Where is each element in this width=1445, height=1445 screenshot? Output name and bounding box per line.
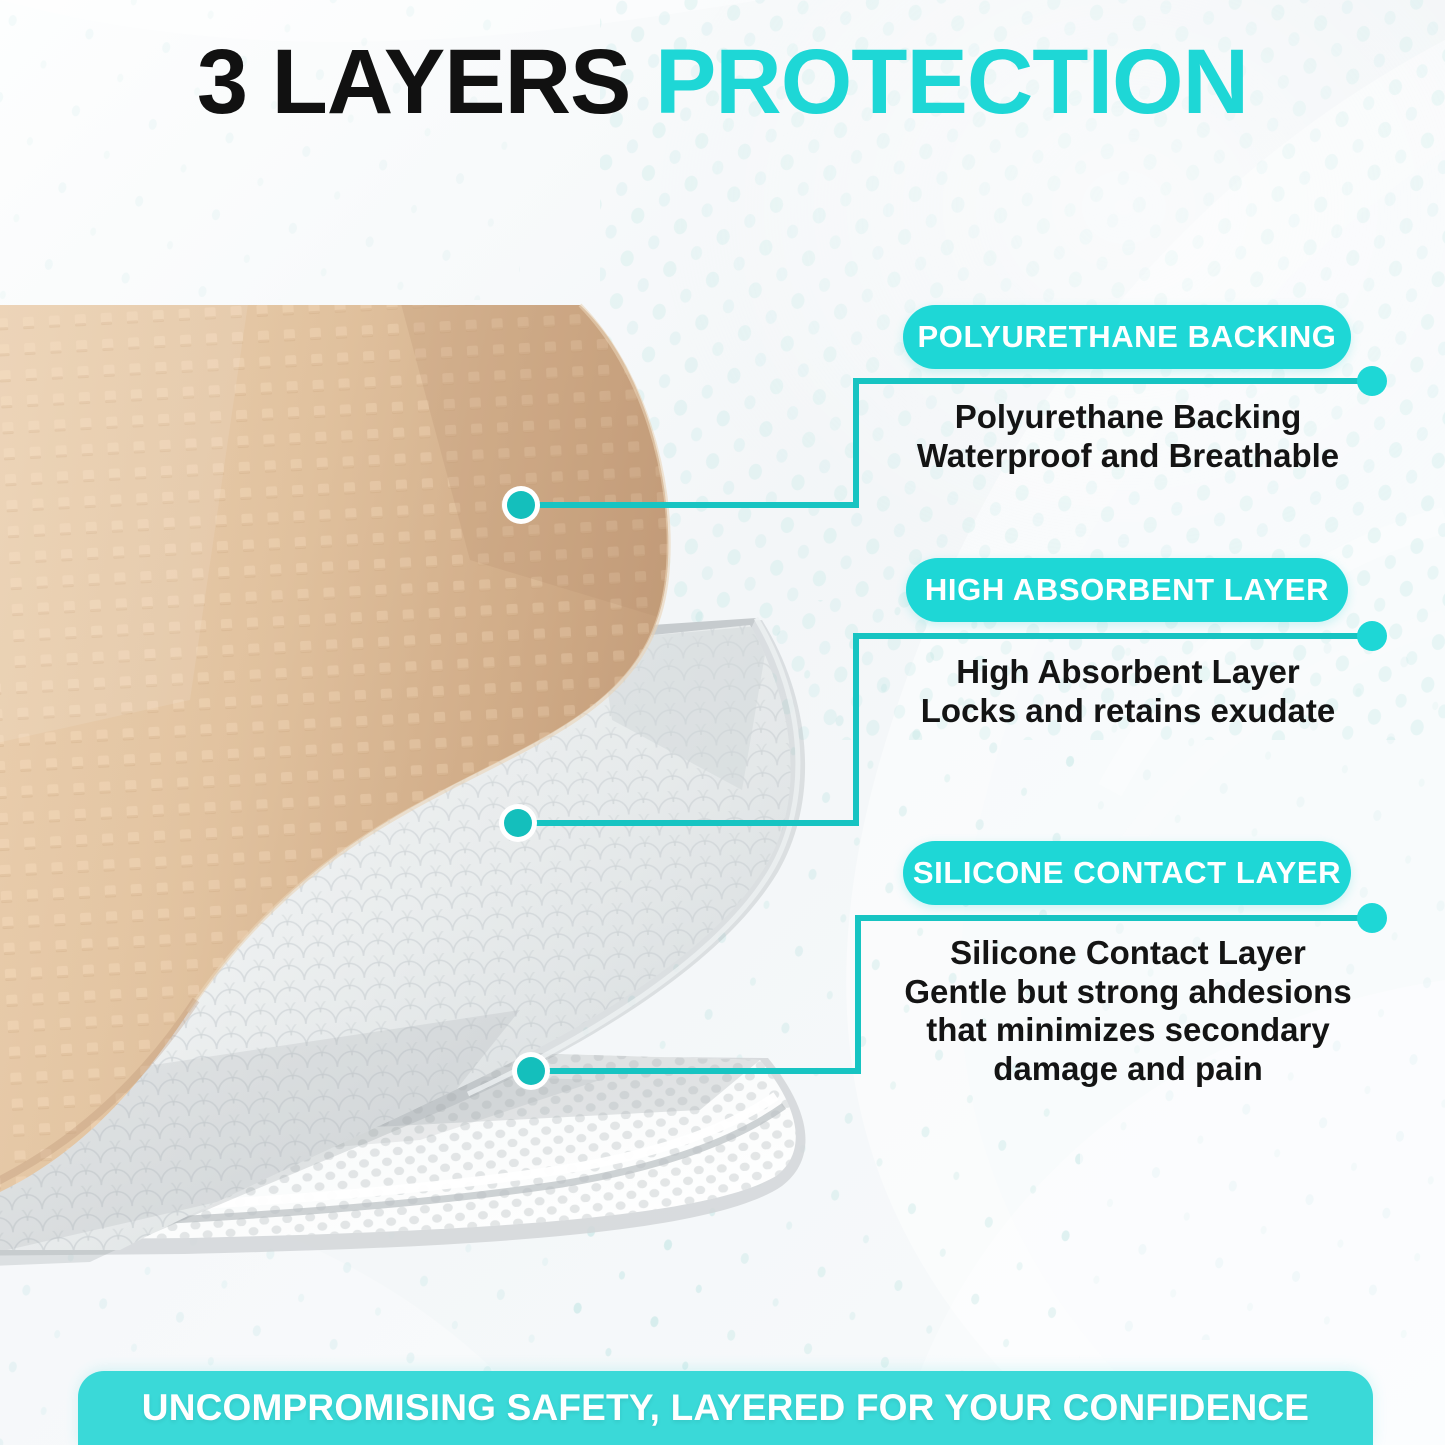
description-high-absorbent-layer: High Absorbent Layer Locks and retains e… [878,653,1378,730]
bottom-banner-text: UNCOMPROMISING SAFETY, LAYERED FOR YOUR … [142,1387,1309,1429]
badge-polyurethane-backing[interactable]: POLYURETHANE BACKING [903,305,1351,369]
description-polyurethane-backing: Polyurethane Backing Waterproof and Brea… [878,398,1378,475]
badge-silicone-contact-layer-label: SILICONE CONTACT LAYER [913,855,1341,891]
description-silicone-contact-layer: Silicone Contact Layer Gentle but strong… [872,934,1384,1088]
badge-high-absorbent-layer-label: HIGH ABSORBENT LAYER [925,572,1329,608]
badge-polyurethane-backing-label: POLYURETHANE BACKING [917,319,1336,355]
badge-high-absorbent-layer[interactable]: HIGH ABSORBENT LAYER [906,558,1348,622]
badge-silicone-contact-layer[interactable]: SILICONE CONTACT LAYER [903,841,1351,905]
bottom-banner: UNCOMPROMISING SAFETY, LAYERED FOR YOUR … [78,1371,1373,1445]
infographic-root: 3 LAYERS PROTECTION [0,0,1445,1445]
